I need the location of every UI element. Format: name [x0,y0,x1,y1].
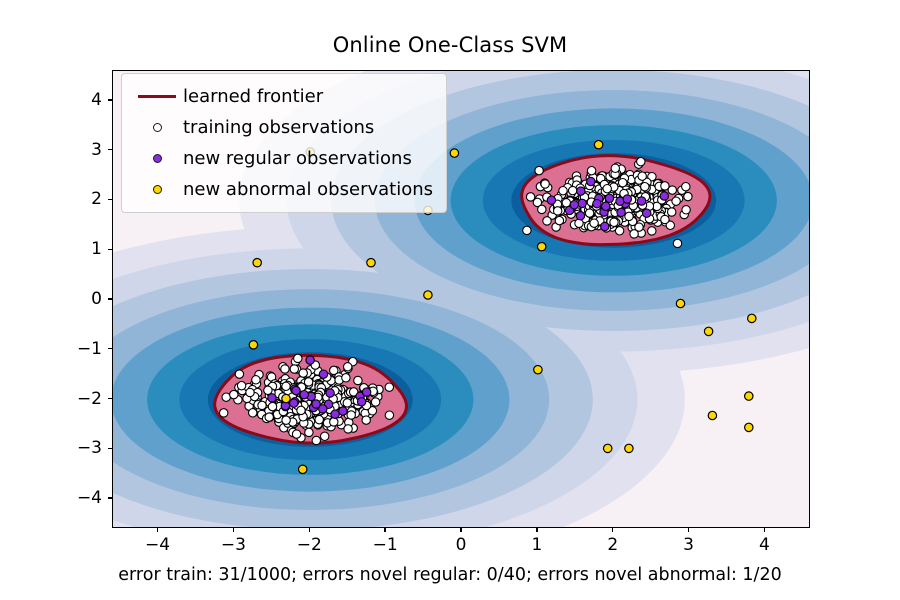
training-observation-point [281,365,289,373]
training-observation-point [299,369,307,377]
training-observation-point [523,226,531,234]
x-tick-mark [309,528,310,532]
training-observation-point [619,179,627,187]
new-regular-observation-point [357,398,365,406]
training-observation-point [535,166,543,174]
new-abnormal-observation-point [282,394,290,402]
y-tick-mark [108,149,112,150]
new-abnormal-observation-point [534,366,542,374]
new-regular-observation-point [326,389,334,397]
training-observation-point [555,216,563,224]
x-tick-label: −3 [221,535,246,555]
training-observation-point [371,398,379,406]
training-observation-point [246,388,254,396]
x-tick-label: 2 [607,535,618,555]
plot-axes: learned frontier training observations n… [112,70,810,528]
training-observation-point [235,370,243,378]
new-regular-observation-dot-icon [131,154,183,163]
training-observation-point [543,217,551,225]
new-abnormal-observation-point [424,291,432,299]
x-tick-label: −1 [373,535,398,555]
y-tick-label: 2 [50,189,102,209]
new-regular-observation-point [362,388,370,396]
training-observation-point [343,399,351,407]
y-tick-label: −2 [50,389,102,409]
training-observation-point [294,354,302,362]
training-observation-point [297,406,305,414]
new-abnormal-observation-point [745,423,753,431]
new-regular-observation-point [605,194,613,202]
training-observation-point [354,376,362,384]
y-tick-mark [108,199,112,200]
y-tick-label: 0 [50,289,102,309]
training-observation-point [538,205,546,213]
new-abnormal-observation-dot-icon [131,185,183,194]
x-tick-label: 1 [531,535,542,555]
training-observation-point [541,180,549,188]
training-observation-point [264,386,272,394]
new-regular-observation-point [660,192,668,200]
training-observation-point [282,416,290,424]
training-observation-point [342,374,350,382]
new-regular-observation-point [576,212,584,220]
training-observation-point [330,418,338,426]
training-observation-point [230,390,238,398]
y-tick-label: −1 [50,339,102,359]
new-regular-observation-point [547,196,555,204]
new-regular-observation-point [578,199,586,207]
training-observation-point [625,212,633,220]
new-regular-observation-point [593,200,601,208]
training-observation-point [526,193,534,201]
training-observation-point [252,376,260,384]
training-observation-dot-icon [131,123,183,132]
training-observation-point [362,416,370,424]
training-observation-point [661,182,669,190]
legend-label: training observations [183,117,374,138]
new-regular-observation-point [623,195,631,203]
training-observation-point [249,409,257,417]
new-regular-observation-point [268,394,276,402]
legend-label: learned frontier [183,86,323,107]
training-observation-point [661,215,669,223]
new-regular-observation-point [290,399,298,407]
new-abnormal-observation-point [249,341,257,349]
training-observation-point [630,230,638,238]
training-observation-point [265,413,273,421]
new-abnormal-observation-point [299,465,307,473]
training-observation-point [385,383,393,391]
x-tick-mark [460,528,461,532]
training-observation-point [554,207,562,215]
x-tick-label: 3 [683,535,694,555]
chart-legend[interactable]: learned frontier training observations n… [121,73,447,213]
training-observation-point [258,401,266,409]
new-regular-observation-point [602,202,610,210]
new-regular-observation-point [570,201,578,209]
y-tick-mark [108,348,112,349]
training-observation-point [305,428,313,436]
new-abnormal-observation-point [748,314,756,322]
x-tick-label: 0 [456,535,467,555]
x-axis-label: error train: 31/1000; errors novel regul… [0,565,900,585]
training-observation-point [315,416,323,424]
new-regular-observation-point [577,187,585,195]
new-abnormal-observation-point [450,149,458,157]
new-abnormal-observation-point [538,243,546,251]
new-regular-observation-point [601,222,609,230]
training-observation-point [668,208,676,216]
y-tick-label: 1 [50,239,102,259]
new-abnormal-observation-point [367,259,375,267]
training-observation-point [268,402,276,410]
training-observation-point [344,363,352,371]
training-observation-point [638,172,646,180]
training-observation-point [282,382,290,390]
training-observation-point [292,430,300,438]
x-tick-mark [384,528,385,532]
x-tick-mark [612,528,613,532]
x-tick-label: 4 [759,535,770,555]
new-abnormal-observation-point [253,259,261,267]
training-observation-point [611,164,619,172]
training-observation-point [347,411,355,419]
training-observation-point [682,206,690,214]
new-abnormal-observation-point [604,444,612,452]
new-regular-observation-point [643,209,651,217]
training-observation-point [290,365,298,373]
chart-title: Online One-Class SVM [0,33,900,57]
new-abnormal-observation-point [676,299,684,307]
training-observation-point [321,432,329,440]
training-observation-point [220,409,228,417]
y-tick-mark [108,398,112,399]
learned-frontier-line-icon [131,95,183,98]
new-regular-observation-point [617,208,625,216]
y-tick-mark [108,249,112,250]
x-tick-mark [688,528,689,532]
x-tick-mark [764,528,765,532]
legend-label: new abnormal observations [183,179,433,200]
new-abnormal-observation-point [594,141,602,149]
new-regular-observation-point [306,356,314,364]
y-tick-mark [108,99,112,100]
new-regular-observation-point [292,386,300,394]
training-observation-point [569,186,577,194]
y-tick-label: 3 [50,140,102,160]
legend-item-training-observations[interactable]: training observations [131,112,433,143]
training-observation-point [559,187,567,195]
y-tick-label: −3 [50,438,102,458]
training-observation-point [684,192,692,200]
training-observation-point [237,382,245,390]
new-abnormal-observation-point [625,444,633,452]
y-tick-mark [108,497,112,498]
legend-item-new-abnormal-observations[interactable]: new abnormal observations [131,174,433,205]
new-abnormal-observation-point [704,327,712,335]
new-abnormal-observation-point [745,392,753,400]
new-abnormal-observation-point [708,411,716,419]
training-observation-point [648,227,656,235]
training-observation-point [587,167,595,175]
legend-item-new-regular-observations[interactable]: new regular observations [131,143,433,174]
x-tick-mark [233,528,234,532]
new-regular-observation-point [319,370,327,378]
training-observation-point [610,218,618,226]
x-tick-mark [157,528,158,532]
training-observation-point [312,436,320,444]
x-tick-label: −2 [297,535,322,555]
y-tick-mark [108,448,112,449]
training-observation-point [637,158,645,166]
figure: Online One-Class SVM learned frontier tr… [0,0,900,600]
x-tick-label: −4 [145,535,170,555]
training-observation-point [575,219,583,227]
training-observation-point [641,183,649,191]
training-observation-point [304,378,312,386]
training-observation-point [603,185,611,193]
training-observation-point [590,219,598,227]
y-tick-mark [108,298,112,299]
y-tick-label: 4 [50,90,102,110]
new-regular-observation-point [300,391,308,399]
y-tick-label: −4 [50,488,102,508]
new-regular-observation-point [637,197,645,205]
training-observation-point [672,197,680,205]
new-regular-observation-point [312,400,320,408]
new-regular-observation-point [339,407,347,415]
x-tick-mark [536,528,537,532]
training-observation-point [682,183,690,191]
training-observation-point [385,411,393,419]
training-observation-point [585,209,593,217]
training-observation-point [344,425,352,433]
legend-label: new regular observations [183,148,412,169]
new-regular-observation-point [587,177,595,185]
legend-item-learned-frontier[interactable]: learned frontier [131,81,433,112]
training-observation-point [673,239,681,247]
new-regular-observation-point [331,410,339,418]
